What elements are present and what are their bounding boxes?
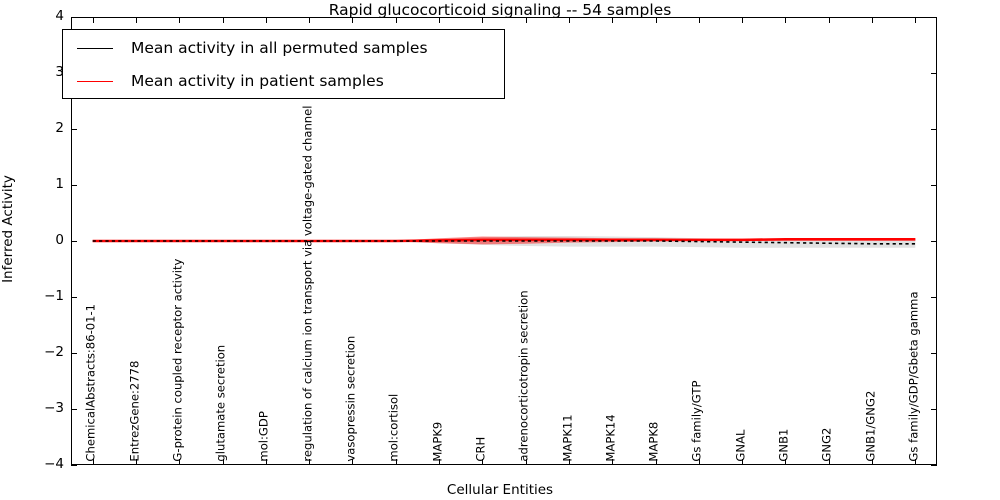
y-tick-mark bbox=[71, 129, 77, 130]
legend-swatch-patient bbox=[77, 81, 113, 82]
chart-legend: Mean activity in all permuted samples Me… bbox=[62, 29, 505, 99]
x-tick-label: MAPK14 bbox=[605, 415, 617, 462]
chart-title: Rapid glucocorticoid signaling -- 54 sam… bbox=[0, 1, 1000, 19]
x-axis-title: Cellular Entities bbox=[0, 482, 1000, 498]
y-tick-mark-right bbox=[931, 185, 937, 186]
x-tick-label: mol:cortisol bbox=[389, 394, 401, 462]
x-tick-label: glutamate secretion bbox=[216, 345, 228, 462]
x-tick-label: vasopressin secretion bbox=[345, 336, 357, 462]
x-tick-label: regulation of calcium ion transport via … bbox=[302, 106, 314, 462]
y-tick-mark bbox=[71, 353, 77, 354]
y-tick-mark bbox=[71, 297, 77, 298]
y-tick-mark-right bbox=[931, 129, 937, 130]
y-axis-title: Inferred Activity bbox=[0, 29, 16, 429]
x-tick-label: adrenocorticotropin secretion bbox=[519, 291, 531, 462]
x-tick-label: MAPK8 bbox=[649, 422, 661, 462]
y-tick-mark bbox=[71, 465, 77, 466]
x-tick-label: GNG2 bbox=[822, 428, 834, 462]
x-tick-label: MAPK11 bbox=[562, 415, 574, 462]
x-tick-label: mol:GDP bbox=[259, 412, 271, 462]
x-tick-label: MAPK9 bbox=[432, 422, 444, 462]
y-tick-label: −4 bbox=[4, 458, 64, 472]
y-tick-mark-right bbox=[931, 241, 937, 242]
chart-figure: Rapid glucocorticoid signaling -- 54 sam… bbox=[0, 0, 1000, 500]
x-tick-label: GNAL bbox=[735, 430, 747, 462]
x-tick-label: Gs family/GTP bbox=[692, 381, 704, 462]
y-tick-mark bbox=[71, 409, 77, 410]
legend-swatch-permuted bbox=[77, 48, 113, 49]
x-tick-label: Gs family/GDP/Gbeta gamma bbox=[908, 292, 920, 462]
x-tick-label: EntrezGene:2778 bbox=[129, 361, 141, 462]
x-tick-label: ChemicalAbstracts:86-01-1 bbox=[86, 304, 98, 462]
legend-label-permuted: Mean activity in all permuted samples bbox=[131, 39, 428, 57]
x-tick-label: CRH bbox=[475, 437, 487, 462]
x-tick-label: GNB1 bbox=[778, 429, 790, 462]
x-tick-label: GNB1/GNG2 bbox=[865, 391, 877, 462]
y-tick-mark bbox=[71, 241, 77, 242]
legend-entry-permuted: Mean activity in all permuted samples bbox=[63, 31, 504, 65]
y-tick-mark-right bbox=[931, 353, 937, 354]
x-tick-label: G-protein coupled receptor activity bbox=[172, 259, 184, 462]
y-tick-mark-right bbox=[931, 409, 937, 410]
y-tick-mark-right bbox=[931, 465, 937, 466]
y-tick-mark bbox=[71, 185, 77, 186]
y-tick-mark-right bbox=[931, 297, 937, 298]
legend-label-patient: Mean activity in patient samples bbox=[131, 72, 384, 90]
y-tick-mark-right bbox=[931, 73, 937, 74]
legend-entry-patient: Mean activity in patient samples bbox=[63, 64, 504, 98]
